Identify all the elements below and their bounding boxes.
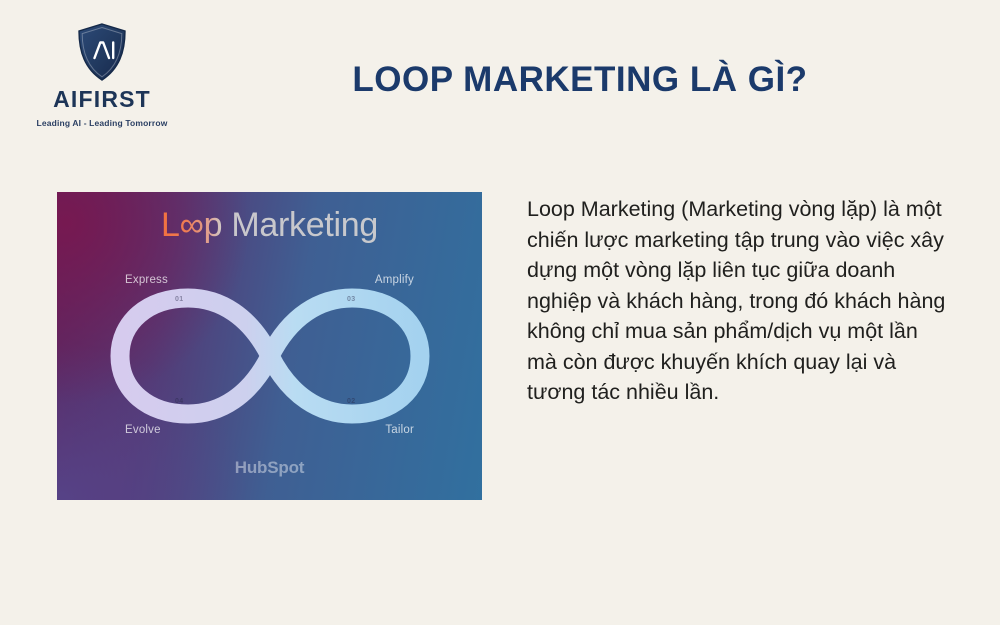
loop-label-tailor: Tailor: [385, 424, 414, 436]
page-title: LOOP MARKETING LÀ GÌ?: [200, 60, 960, 100]
infinity-icon: ∞: [180, 206, 204, 244]
card-title-p: p: [204, 206, 223, 244]
infinity-loop-diagram: [110, 288, 430, 424]
hubspot-text: HubSp: [235, 458, 289, 477]
brand-name: AIFIRST: [53, 88, 151, 111]
loop-label-express: Express: [125, 274, 168, 286]
loop-label-evolve: Evolve: [125, 424, 161, 436]
loop-number-01: 01: [175, 296, 184, 303]
loop-marketing-illustration-card: L∞p Marketing Express Amplify Evolve Tai…: [57, 192, 482, 500]
loop-number-03: 03: [347, 296, 356, 303]
loop-number-02: 02: [347, 398, 356, 405]
hubspot-sprocket-icon: o: [289, 458, 299, 478]
loop-number-04: 04: [175, 398, 184, 405]
card-title-marketing: Marketing: [231, 206, 378, 244]
brand-tagline: Leading AI - Leading Tomorrow: [37, 118, 168, 128]
shield-ai-icon: [75, 22, 129, 82]
brand-logo-block: AIFIRST Leading AI - Leading Tomorrow: [22, 22, 182, 128]
body-paragraph: Loop Marketing (Marketing vòng lặp) là m…: [527, 194, 947, 408]
card-title-l: L: [161, 206, 180, 244]
hubspot-text-tail: t: [299, 458, 304, 477]
hubspot-watermark: HubSpot: [57, 458, 482, 478]
loop-label-amplify: Amplify: [375, 274, 414, 286]
card-title: L∞p Marketing: [57, 206, 482, 245]
